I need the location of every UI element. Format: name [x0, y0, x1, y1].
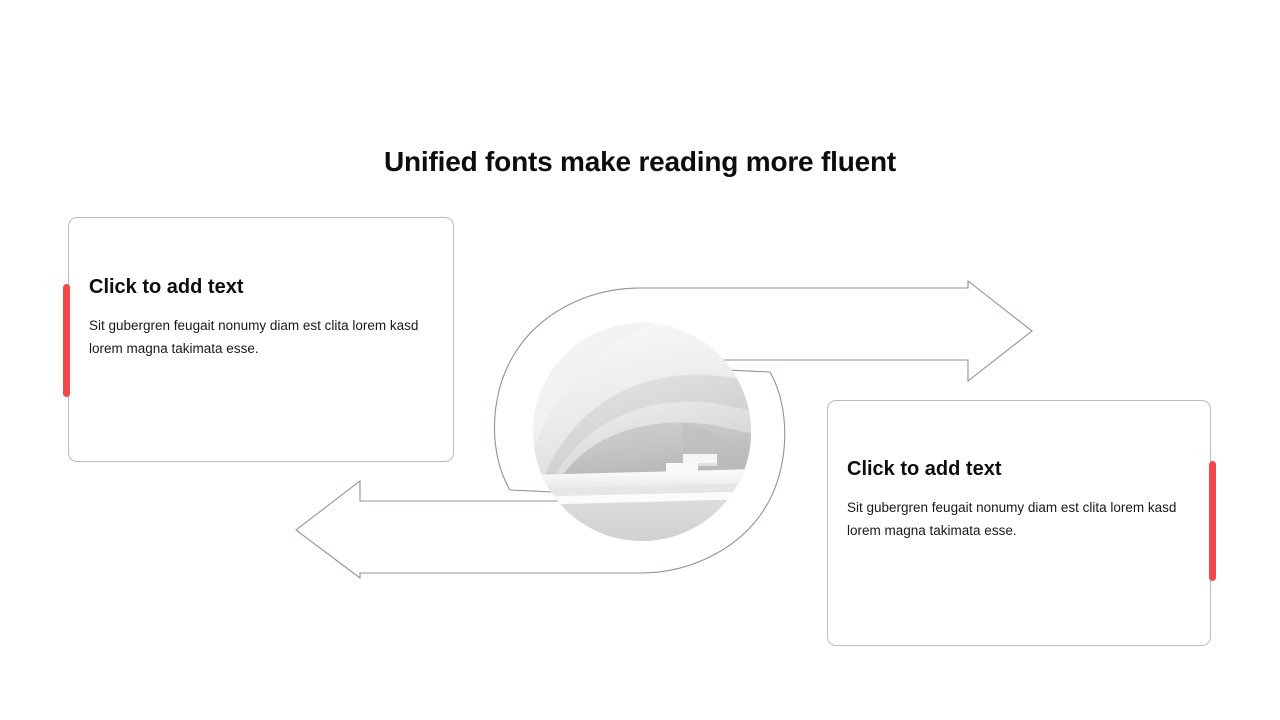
card-body-text[interactable]: Sit gubergren feugait nonumy diam est cl…	[847, 496, 1177, 542]
accent-bar-right	[1209, 461, 1216, 581]
accent-bar-left	[63, 284, 70, 397]
card-heading[interactable]: Click to add text	[847, 456, 1001, 482]
card-body-text[interactable]: Sit gubergren feugait nonumy diam est cl…	[89, 314, 419, 360]
abstract-architecture-photo	[533, 323, 751, 541]
architecture-illustration	[533, 323, 751, 541]
text-card-left[interactable]: Click to add text Sit gubergren feugait …	[68, 217, 454, 462]
page-title: Unified fonts make reading more fluent	[0, 142, 1280, 182]
card-heading[interactable]: Click to add text	[89, 274, 243, 300]
slide-canvas: Unified fonts make reading more fluent	[0, 0, 1280, 720]
text-card-right[interactable]: Click to add text Sit gubergren feugait …	[827, 400, 1211, 646]
